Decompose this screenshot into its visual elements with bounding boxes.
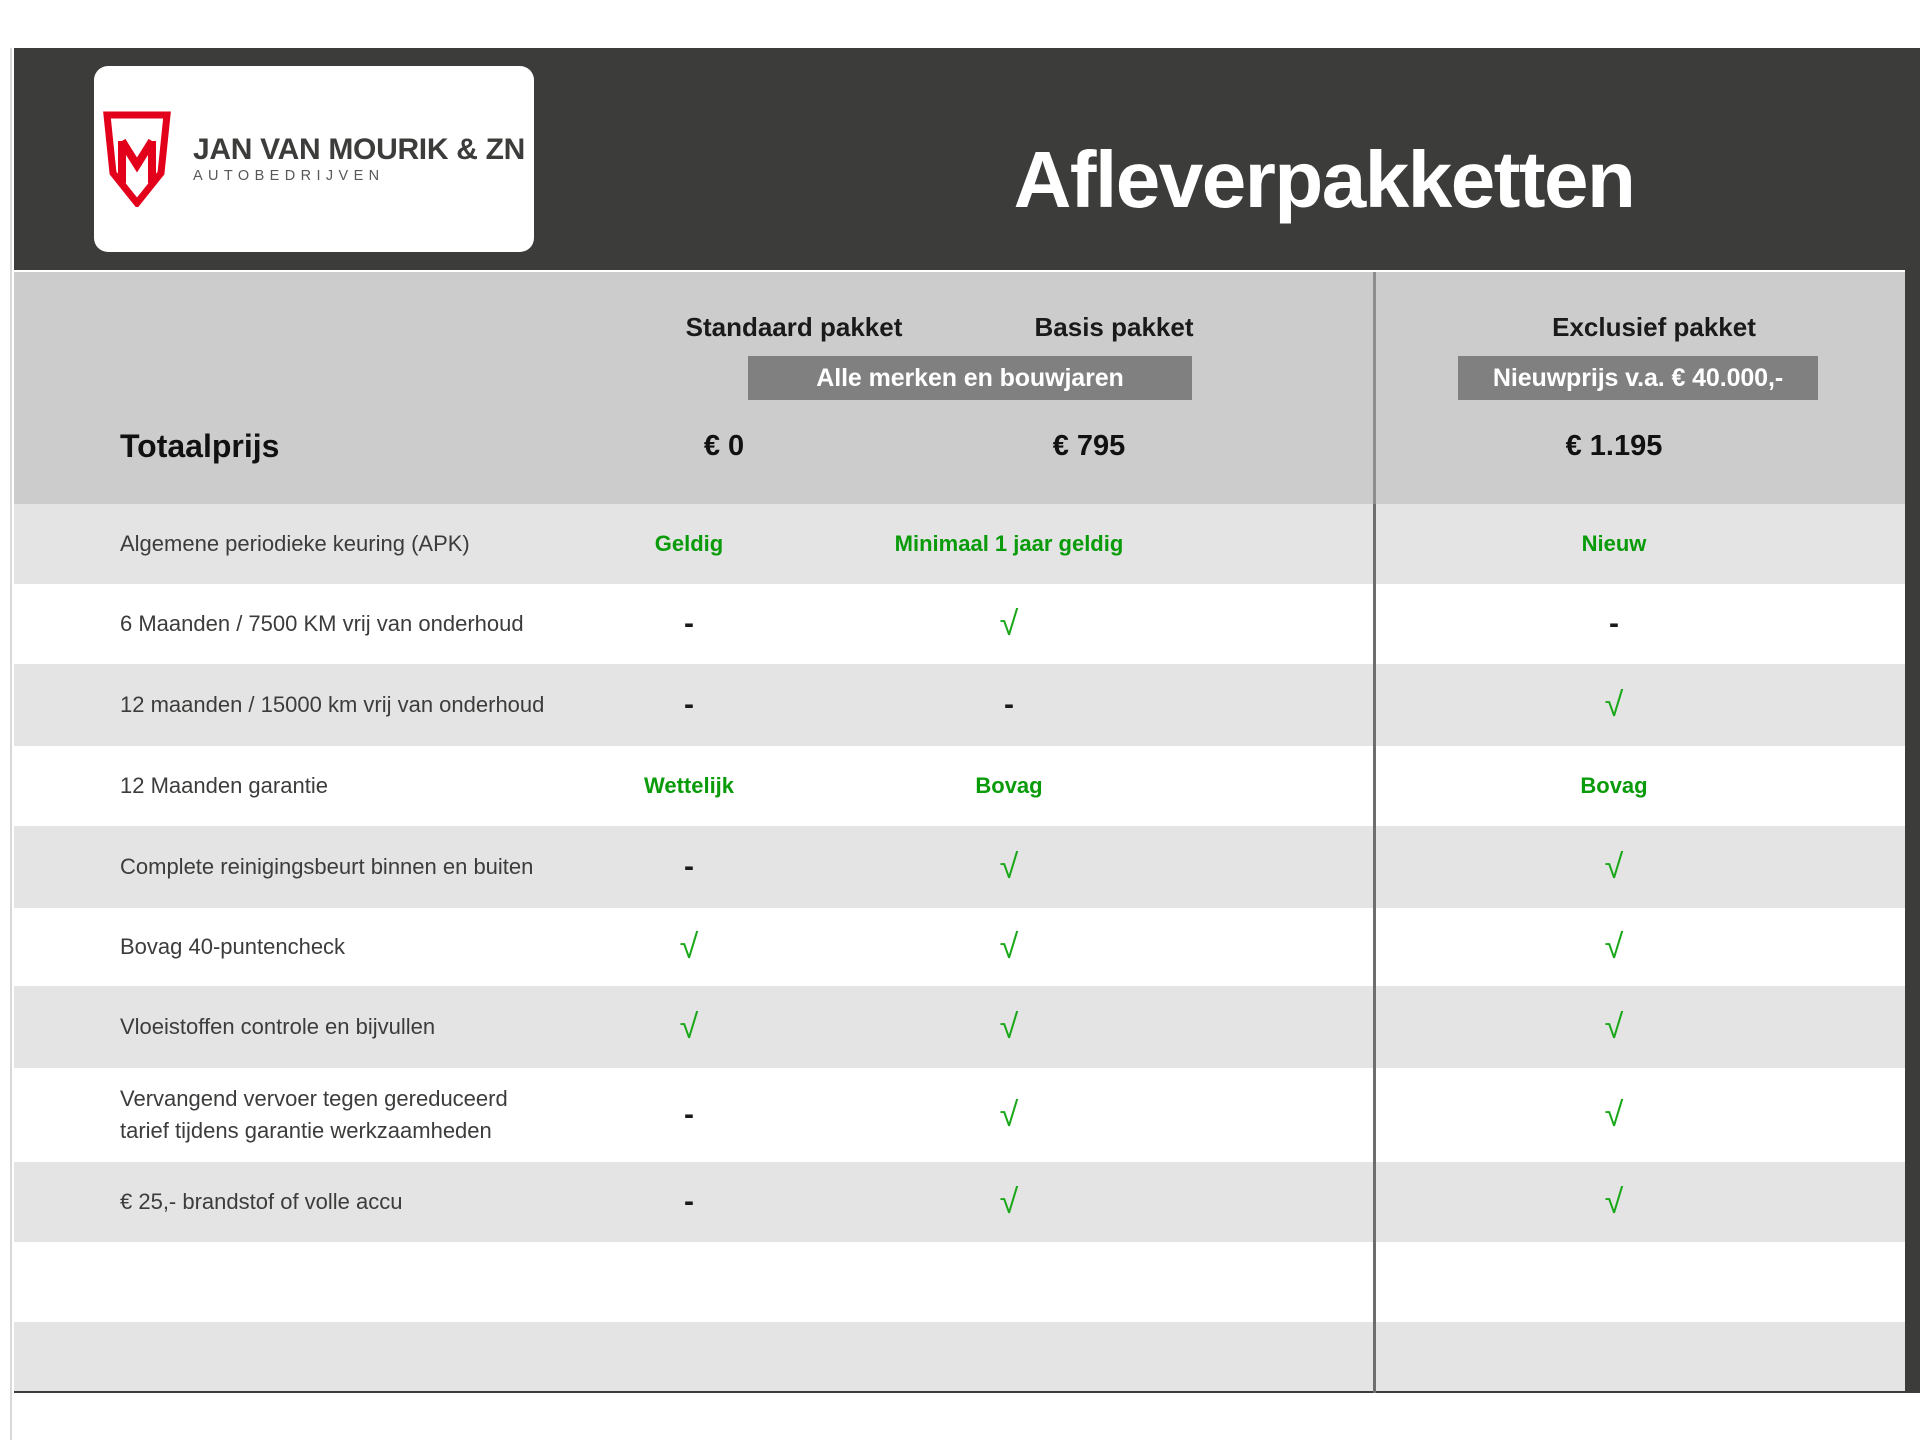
feature-label: Complete reinigingsbeurt binnen en buite… xyxy=(120,851,533,883)
table-row xyxy=(14,1322,1905,1393)
column-header-basis: Basis pakket xyxy=(974,312,1254,343)
logo-company-name: JAN VAN MOURIK & ZN xyxy=(193,135,525,165)
badge-nieuwprijs: Nieuwprijs v.a. € 40.000,- xyxy=(1458,356,1818,400)
cell-basis: Bovag xyxy=(844,775,1174,797)
cell-standaard: Geldig xyxy=(589,533,789,555)
cell-standaard: - xyxy=(589,1187,789,1217)
cell-exclusief: Bovag xyxy=(1444,775,1784,797)
table-row: Algemene periodieke keuring (APK)GeldigM… xyxy=(14,504,1905,584)
feature-label: € 25,- brandstof of volle accu xyxy=(120,1186,403,1218)
cell-basis: √ xyxy=(844,1098,1174,1132)
feature-label: Bovag 40-puntencheck xyxy=(120,931,345,963)
table-row: € 25,- brandstof of volle accu-√√ xyxy=(14,1162,1905,1242)
cell-exclusief: - xyxy=(1444,609,1784,639)
cell-basis: - xyxy=(844,690,1174,720)
cell-standaard: - xyxy=(589,852,789,882)
cell-standaard: - xyxy=(589,609,789,639)
table-row: Bovag 40-puntencheck√√√ xyxy=(14,908,1890,986)
logo-company-subtitle: AUTOBEDRIJVEN xyxy=(193,169,525,184)
company-logo: JAN VAN MOURIK & ZN AUTOBEDRIJVEN xyxy=(94,66,534,252)
feature-label: 12 Maanden garantie xyxy=(120,770,328,802)
table-row: Complete reinigingsbeurt binnen en buite… xyxy=(14,826,1905,908)
table-row xyxy=(14,1242,1890,1322)
cell-exclusief: Nieuw xyxy=(1444,533,1784,555)
cell-exclusief: √ xyxy=(1444,1185,1784,1219)
table-bottom-border xyxy=(14,1391,1905,1393)
cell-exclusief: √ xyxy=(1444,1010,1784,1044)
column-header-exclusief: Exclusief pakket xyxy=(1404,312,1904,343)
total-price-standaard: € 0 xyxy=(634,430,814,463)
cell-basis: √ xyxy=(844,1185,1174,1219)
table-row: 12 Maanden garantieWettelijkBovagBovag xyxy=(14,746,1890,826)
cell-basis: √ xyxy=(844,850,1174,884)
cell-basis: Minimaal 1 jaar geldig xyxy=(844,533,1174,555)
comparison-table: Algemene periodieke keuring (APK)GeldigM… xyxy=(14,504,1905,1393)
cell-exclusief: √ xyxy=(1444,850,1784,884)
cell-basis: √ xyxy=(844,930,1174,964)
afleverpakketten-sheet: JAN VAN MOURIK & ZN AUTOBEDRIJVEN Afleve… xyxy=(0,0,1920,1440)
cell-standaard: - xyxy=(589,1100,789,1130)
cell-standaard: √ xyxy=(589,1010,789,1044)
cell-basis: √ xyxy=(844,607,1174,641)
feature-label: 6 Maanden / 7500 KM vrij van onderhoud xyxy=(120,608,524,640)
cell-exclusief: √ xyxy=(1444,1098,1784,1132)
table-row: 6 Maanden / 7500 KM vrij van onderhoud-√… xyxy=(14,584,1890,664)
cell-exclusief: √ xyxy=(1444,688,1784,722)
feature-label: 12 maanden / 15000 km vrij van onderhoud xyxy=(120,689,544,721)
total-price-basis: € 795 xyxy=(994,430,1184,463)
table-row: Vloeistoffen controle en bijvullen√√√ xyxy=(14,986,1905,1068)
feature-label: Algemene periodieke keuring (APK) xyxy=(120,528,470,560)
cell-exclusief: √ xyxy=(1444,930,1784,964)
table-row: Vervangend vervoer tegen gereduceerd tar… xyxy=(14,1068,1890,1162)
table-column-divider xyxy=(1373,504,1376,1393)
sheet-left-border xyxy=(10,48,12,1440)
cell-standaard: - xyxy=(589,690,789,720)
sheet-right-border xyxy=(1905,48,1920,1393)
total-price-row: Totaalprijs € 0 € 795 € 1.195 xyxy=(14,420,1905,486)
page-title: Afleverpakketten xyxy=(894,140,1754,220)
table-row: 12 maanden / 15000 km vrij van onderhoud… xyxy=(14,664,1905,746)
cell-basis: √ xyxy=(844,1010,1174,1044)
feature-label: Vloeistoffen controle en bijvullen xyxy=(120,1011,435,1043)
cell-standaard: √ xyxy=(589,930,789,964)
total-price-exclusief: € 1.195 xyxy=(1469,430,1759,463)
badge-alle-merken: Alle merken en bouwjaren xyxy=(748,356,1192,400)
total-price-label: Totaalprijs xyxy=(120,428,279,465)
column-header-standaard: Standaard pakket xyxy=(634,312,954,343)
cell-standaard: Wettelijk xyxy=(589,775,789,797)
page-header: JAN VAN MOURIK & ZN AUTOBEDRIJVEN Afleve… xyxy=(14,48,1905,270)
shield-m-icon xyxy=(103,111,171,207)
feature-label: Vervangend vervoer tegen gereduceerd tar… xyxy=(120,1083,540,1147)
